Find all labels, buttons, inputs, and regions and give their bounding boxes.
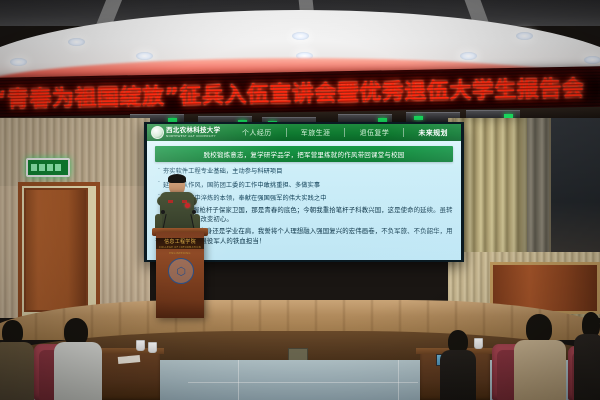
slide-tab-personal-experience[interactable]: 个人经历	[238, 128, 276, 138]
downlight-5	[460, 52, 477, 60]
bullet-dot-icon: ·	[158, 167, 160, 173]
audience-body-right-1	[514, 340, 566, 400]
downlight-8	[10, 58, 27, 66]
slide-tab-future-plan[interactable]: 未来规划	[414, 128, 452, 138]
speaker-chest-badge	[185, 203, 190, 208]
list-item: ·延续部队作风，国防团工委的工作中敢挑重担、多做实事	[158, 180, 453, 189]
slide-tab-return-to-study[interactable]: 退伍复学	[356, 128, 394, 138]
list-item: ·军营和校园中淬炼的本领，奉献在强国强军的伟大实践之中	[158, 193, 453, 202]
slide-nav-bar: 西北农林科技大学 NORTHWEST A&F UNIVERSITY 个人经历 军…	[147, 124, 461, 141]
downlight-1	[68, 38, 85, 46]
list-item: ·夯实软件工程专业基础，主动参与科研项目	[158, 166, 453, 175]
speaker-collar-tab-left	[168, 200, 173, 203]
left-wall-upper-panels	[0, 118, 150, 186]
tab-separator-3	[403, 128, 404, 137]
downlight-3	[292, 32, 309, 40]
floor-tile-line-1	[238, 360, 239, 400]
microphone-head-right	[192, 210, 196, 214]
university-name-cn: 西北农林科技大学	[166, 127, 220, 134]
cup-left-1[interactable]	[136, 340, 145, 351]
bullet-text: 延续部队作风，国防团工委的工作中敢挑重担、多做实事	[163, 180, 320, 189]
exit-door[interactable]	[24, 188, 88, 312]
downlight-2	[136, 52, 153, 60]
podium-college-en: COLLEGE OF INFORMATION ENGINEERING	[158, 245, 202, 257]
tab-separator-2	[344, 128, 345, 137]
university-seal-icon	[151, 126, 164, 139]
audience-body-left-1	[0, 342, 34, 400]
microphone-head-left	[161, 210, 165, 214]
floor-tile-line-2	[398, 360, 399, 400]
university-logo: 西北农林科技大学 NORTHWEST A&F UNIVERSITY	[147, 126, 233, 139]
auditorium-photo: “青春为祖国绽放”征兵入伍宣讲会暨优秀退伍大学生报告会 西北农林科技大学 NOR…	[0, 0, 600, 400]
downlight-7	[584, 56, 600, 64]
gray-curtain-right	[527, 118, 549, 258]
slide-tab-list: 个人经历 军旅生涯 退伍复学 未来规划	[233, 128, 461, 138]
slide-section-title: 脱校锻炼意志，复学研学品学，把军营里练就的作风带回课堂与校园	[155, 146, 453, 162]
downlight-6	[516, 32, 533, 40]
cup-right-1[interactable]	[474, 338, 483, 349]
audience-body-left-2	[54, 342, 102, 400]
slide-tab-military-career[interactable]: 军旅生涯	[297, 128, 335, 138]
audience-body-right-3	[440, 350, 476, 400]
university-name-en: NORTHWEST A&F UNIVERSITY	[166, 135, 220, 138]
rear-window	[549, 118, 600, 258]
gold-curtain-left	[455, 118, 527, 268]
slide-bullet-list: ·夯实软件工程专业基础，主动参与科研项目 ·延续部队作风，国防团工委的工作中敢挑…	[155, 166, 453, 201]
audience-body-right-2	[574, 334, 600, 400]
cup-left-2[interactable]	[148, 342, 157, 353]
bullet-dot-icon: ·	[158, 180, 160, 186]
podium-emblem-icon: ⬡	[168, 258, 194, 284]
tab-separator-1	[286, 128, 287, 137]
podium-name-text: 信息工程学院 COLLEGE OF INFORMATION ENGINEERIN…	[158, 239, 202, 257]
floor-tile-line-3	[188, 382, 418, 383]
exit-sign-icon	[26, 158, 70, 177]
speaker-hair	[168, 174, 186, 183]
